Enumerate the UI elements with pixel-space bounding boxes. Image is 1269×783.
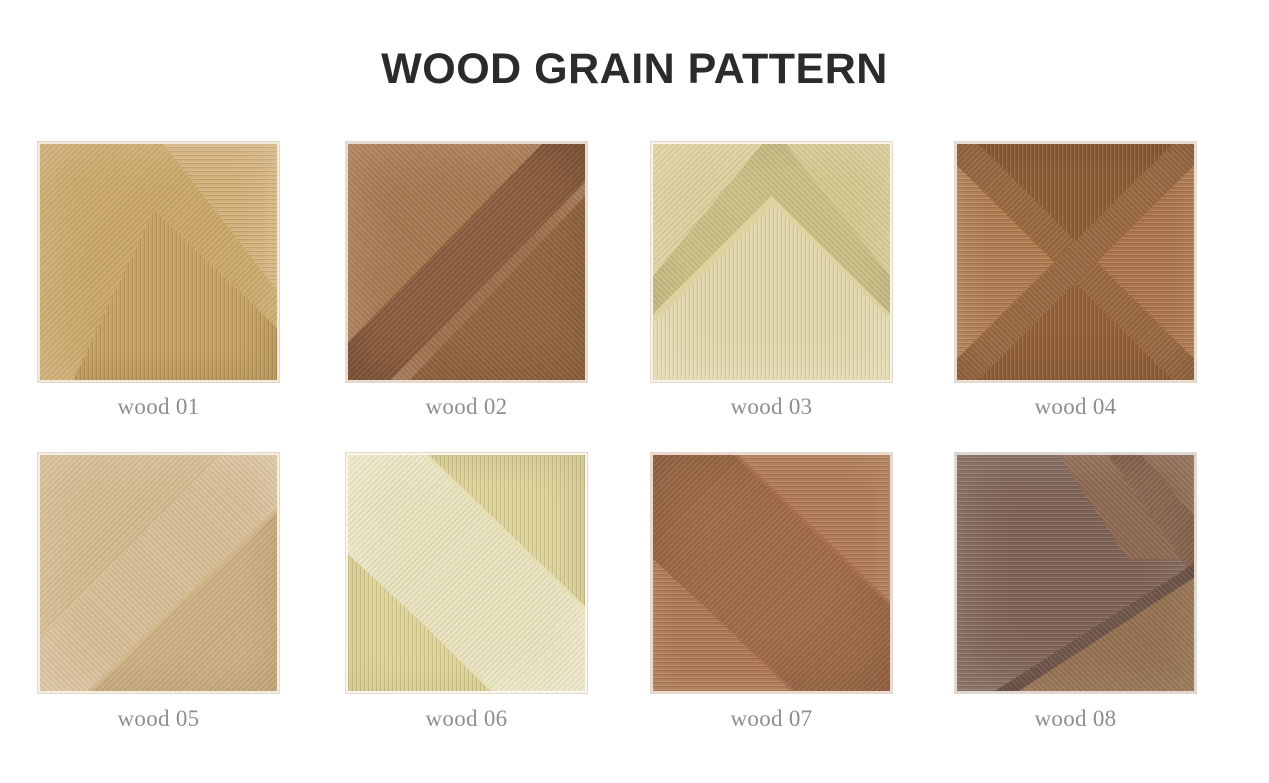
wood-swatch-tile-02[interactable] xyxy=(346,142,587,382)
swatch-card-wood-06[interactable]: wood 06 xyxy=(346,453,587,731)
page-title: WOOD GRAIN PATTERN xyxy=(0,48,1269,91)
swatch-card-wood-05[interactable]: wood 05 xyxy=(38,453,279,731)
swatch-card-wood-03[interactable]: wood 03 xyxy=(651,142,892,419)
wood-swatch-tile-01[interactable] xyxy=(38,142,279,382)
swatch-card-wood-08[interactable]: wood 08 xyxy=(955,453,1196,731)
swatch-card-wood-07[interactable]: wood 07 xyxy=(651,453,892,731)
wood-swatch-tile-06[interactable] xyxy=(346,453,587,693)
swatch-label: wood 04 xyxy=(955,394,1196,419)
wood-swatch-tile-07[interactable] xyxy=(651,453,892,693)
wood-swatch-tile-03[interactable] xyxy=(651,142,892,382)
swatch-label: wood 06 xyxy=(346,706,587,731)
swatch-label: wood 08 xyxy=(955,706,1196,731)
swatch-card-wood-04[interactable]: wood 04 xyxy=(955,142,1196,419)
swatch-label: wood 07 xyxy=(651,706,892,731)
swatch-card-wood-01[interactable]: wood 01 xyxy=(38,142,279,419)
swatch-label: wood 03 xyxy=(651,394,892,419)
wood-swatch-tile-04[interactable] xyxy=(955,142,1196,382)
swatch-label: wood 01 xyxy=(38,394,279,419)
wood-swatch-tile-05[interactable] xyxy=(38,453,279,693)
swatch-label: wood 02 xyxy=(346,394,587,419)
wood-swatch-tile-08[interactable] xyxy=(955,453,1196,693)
swatch-label: wood 05 xyxy=(38,706,279,731)
swatch-card-wood-02[interactable]: wood 02 xyxy=(346,142,587,419)
swatch-grid: wood 01 wood 02 wood 03 xyxy=(38,142,1196,742)
